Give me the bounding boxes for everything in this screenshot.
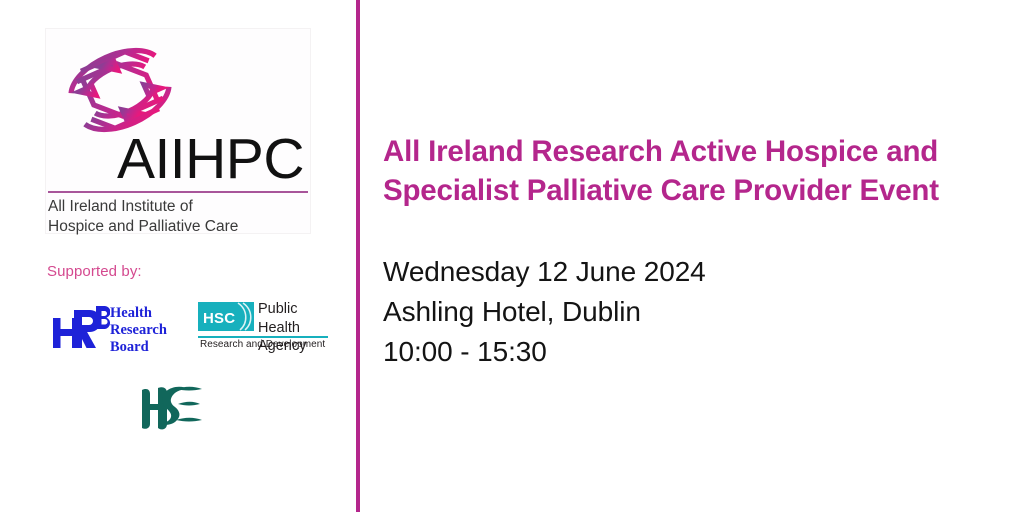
supported-by-heading: Supported by: <box>47 263 142 280</box>
hrb-wordmark: Health Research Board <box>110 305 167 356</box>
event-time: 10:00 - 15:30 <box>383 332 1003 372</box>
aiihpc-divider-rule <box>48 191 308 193</box>
event-date: Wednesday 12 June 2024 <box>383 252 1003 292</box>
event-title-line2: Specialist Palliative Care Provider Even… <box>383 171 1003 210</box>
aiihpc-name-line2: Hospice and Palliative Care <box>48 217 238 237</box>
aiihpc-full-name: All Ireland Institute of Hospice and Pal… <box>48 197 238 238</box>
event-info-panel: All Ireland Research Active Hospice and … <box>383 0 1008 512</box>
aiihpc-name-line1: All Ireland Institute of <box>48 197 238 217</box>
hrb-monogram-icon <box>52 304 110 352</box>
event-venue: Ashling Hotel, Dublin <box>383 292 1003 332</box>
event-title-line1: All Ireland Research Active Hospice and <box>383 132 1003 171</box>
hsc-badge-icon: HSC <box>198 302 254 331</box>
vertical-divider <box>356 0 360 512</box>
public-health-agency-logo: HSC Public Health Agency Research and De… <box>198 300 328 356</box>
pha-tagline: Research and Development <box>200 339 325 350</box>
aiihpc-acronym: AIIHPC <box>117 131 304 188</box>
branding-panel: AIIHPC All Ireland Institute of Hospice … <box>0 0 356 512</box>
hrb-logo: Health Research Board <box>52 302 177 354</box>
hrb-name-line1: Health <box>110 305 167 322</box>
event-title: All Ireland Research Active Hospice and … <box>383 132 1003 210</box>
hrb-name-line2: Research <box>110 322 167 339</box>
svg-text:HSC: HSC <box>203 310 235 327</box>
event-details: Wednesday 12 June 2024 Ashling Hotel, Du… <box>383 252 1003 371</box>
hse-logo <box>136 382 208 430</box>
aiihpc-logo: AIIHPC All Ireland Institute of Hospice … <box>45 28 311 234</box>
hrb-name-line3: Board <box>110 339 167 356</box>
hse-monogram-icon <box>136 382 208 430</box>
event-poster: AIIHPC All Ireland Institute of Hospice … <box>0 0 1024 512</box>
pha-name-line1: Public Health <box>258 300 328 337</box>
pha-divider-rule <box>198 336 328 338</box>
